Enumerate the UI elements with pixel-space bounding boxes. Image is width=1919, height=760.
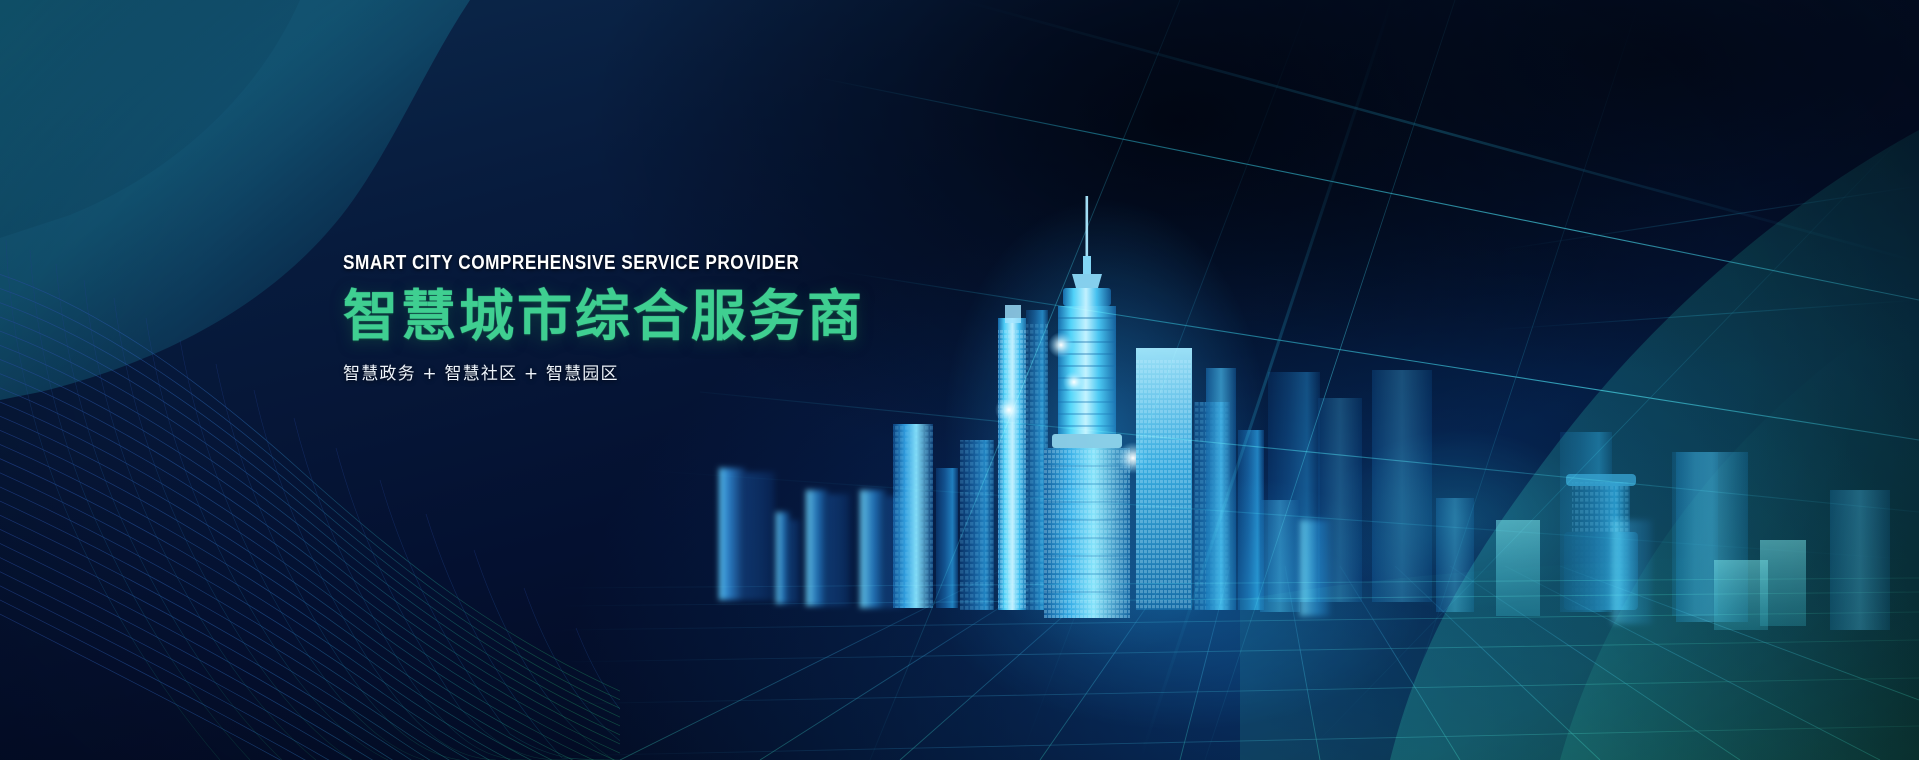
hero-headline-text: 智慧城市综合服务商 — [343, 287, 1103, 345]
hero-banner: SMART CITY COMPREHENSIVE SERVICE PROVIDE… — [0, 0, 1919, 760]
hero-subline-text: 智慧政务 + 智慧社区 + 智慧园区 — [343, 359, 1103, 384]
hero-eyebrow-text: SMART CITY COMPREHENSIVE SERVICE PROVIDE… — [343, 253, 997, 274]
hero-copy-block: SMART CITY COMPREHENSIVE SERVICE PROVIDE… — [343, 253, 1103, 384]
